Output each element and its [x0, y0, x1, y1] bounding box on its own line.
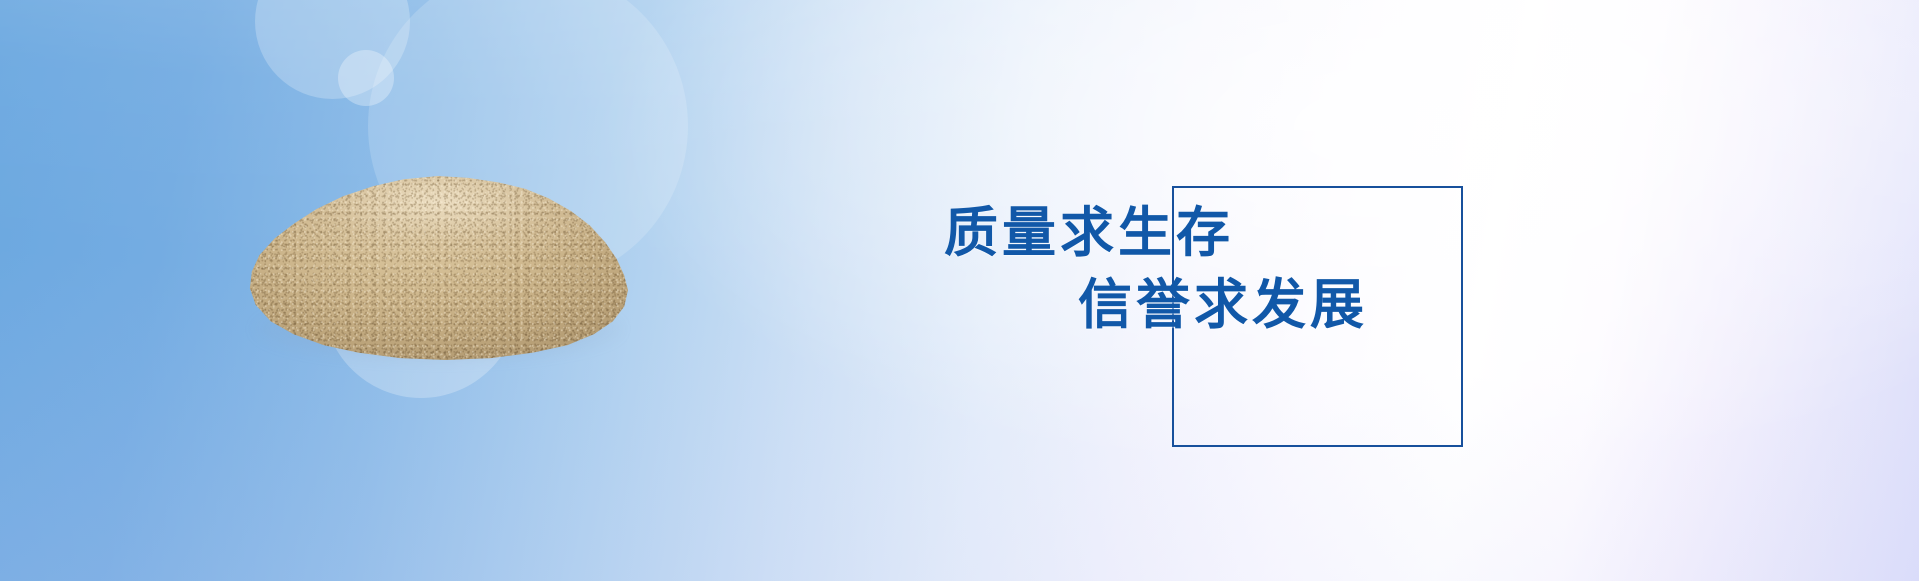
banner-root: 质量求生存 信誉求发展 — [0, 0, 1919, 581]
decorative-rectangle-frame — [1172, 186, 1463, 447]
decorative-circle-tiny — [338, 50, 394, 106]
sand-grain-texture-light — [248, 176, 628, 360]
sand-pile-body — [248, 176, 628, 360]
quartz-sand-pile-image — [248, 176, 628, 360]
